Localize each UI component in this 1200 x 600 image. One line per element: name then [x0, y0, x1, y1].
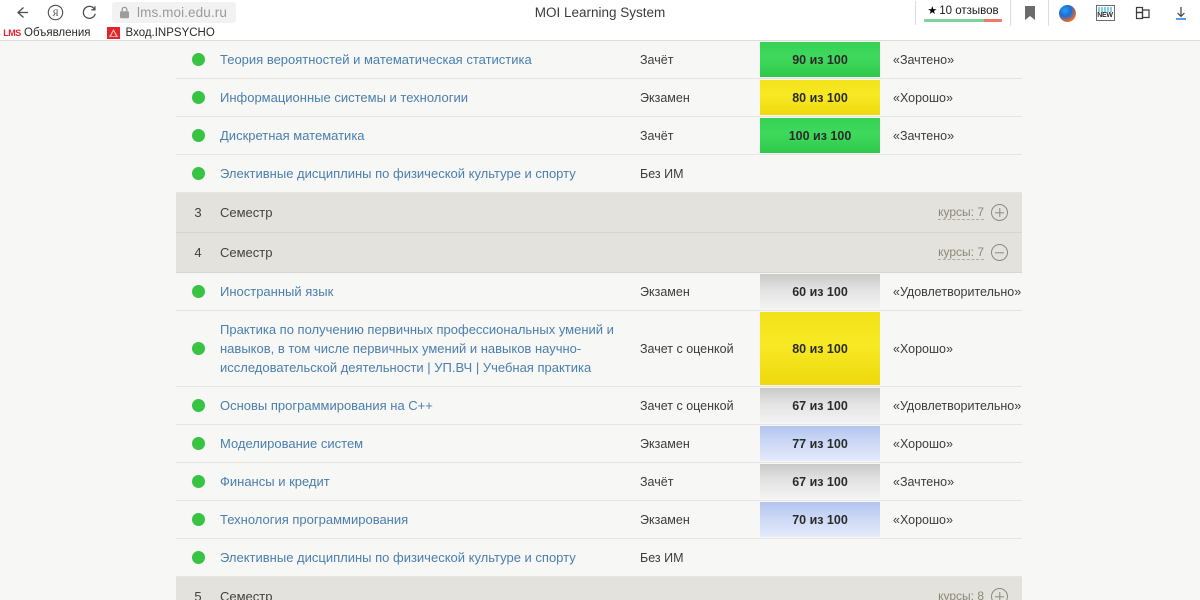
- mark-cell: «Зачтено»: [880, 117, 1022, 154]
- status-dot-icon: [192, 342, 205, 355]
- score-cell: 60 из 100: [760, 274, 880, 309]
- inpsycho-favicon-icon: [107, 27, 121, 39]
- mark-cell: [880, 539, 1022, 576]
- table-row: Элективные дисциплины по физической куль…: [176, 155, 1022, 193]
- status-dot-icon: [192, 513, 205, 526]
- course-name-cell: Технология программирования: [220, 501, 636, 538]
- news-badge-label: NEW: [1097, 11, 1112, 20]
- course-link[interactable]: Информационные системы и технологии: [220, 88, 468, 107]
- course-link[interactable]: Теория вероятностей и математическая ста…: [220, 50, 532, 69]
- course-link[interactable]: Элективные дисциплины по физической куль…: [220, 164, 576, 183]
- reviews-count-label: 10 отзывов: [939, 5, 998, 17]
- course-link[interactable]: Основы программирования на C++: [220, 396, 433, 415]
- status-dot-icon: [192, 475, 205, 488]
- course-name-cell: Информационные системы и технологии: [220, 79, 636, 116]
- mark-cell: «Удовлетворительно»: [880, 387, 1022, 424]
- semester-label: Семестр: [220, 589, 938, 600]
- course-link[interactable]: Моделирование систем: [220, 434, 363, 453]
- score-cell: [760, 540, 880, 575]
- reviews-rating-bar: [924, 19, 1002, 22]
- browser-chrome: Я lms.moi.edu.ru MOI Learning System: [0, 0, 1200, 41]
- browser-toolbar: Я lms.moi.edu.ru MOI Learning System: [0, 0, 1200, 24]
- bookmark-icon[interactable]: [1010, 0, 1048, 26]
- table-row: Основы программирования на C++Зачет с оц…: [176, 387, 1022, 425]
- course-name-cell: Иностранный язык: [220, 273, 636, 310]
- course-link[interactable]: Практика по получению первичных професси…: [220, 320, 624, 377]
- semester-courses-count[interactable]: курсы: 7: [938, 245, 984, 260]
- semester-number: 4: [176, 245, 220, 260]
- status-dot-icon: [192, 437, 205, 450]
- bookmark-label: Вход.INPSYCHO: [126, 27, 215, 39]
- score-cell: 67 из 100: [760, 464, 880, 499]
- status-dot-cell: [176, 41, 220, 78]
- control-type-cell: Зачёт: [636, 41, 760, 78]
- status-dot-cell: [176, 79, 220, 116]
- course-link[interactable]: Элективные дисциплины по физической куль…: [220, 548, 576, 567]
- status-dot-cell: [176, 425, 220, 462]
- status-dot-icon: [192, 167, 205, 180]
- lms-favicon-label: LMS: [3, 28, 21, 38]
- control-type-cell: Экзамен: [636, 425, 760, 462]
- status-dot-icon: [192, 91, 205, 104]
- reviews-badge[interactable]: ★ 10 отзывов: [915, 1, 1010, 25]
- status-dot-cell: [176, 311, 220, 386]
- semester-header-row[interactable]: 3Семестркурсы: 7: [176, 193, 1022, 233]
- course-name-cell: Финансы и кредит: [220, 463, 636, 500]
- collections-icon[interactable]: [1124, 0, 1162, 26]
- semester-courses-count[interactable]: курсы: 7: [938, 205, 984, 220]
- svg-text:Я: Я: [52, 8, 58, 18]
- bookmark-label: Объявления: [24, 27, 91, 39]
- status-dot-cell: [176, 387, 220, 424]
- status-dot-cell: [176, 463, 220, 500]
- status-dot-cell: [176, 539, 220, 576]
- mark-cell: «Удовлетворительно»: [880, 273, 1022, 310]
- semester-header-row[interactable]: 4Семестркурсы: 7: [176, 233, 1022, 273]
- bookmark-item-inpsycho[interactable]: Вход.INPSYCHO: [107, 27, 215, 39]
- browser-orb-icon[interactable]: [1048, 0, 1086, 26]
- score-cell: 100 из 100: [760, 118, 880, 153]
- control-type-cell: Зачёт: [636, 117, 760, 154]
- status-dot-icon: [192, 129, 205, 142]
- table-row: Информационные системы и технологииЭкзам…: [176, 79, 1022, 117]
- semester-right-group: курсы: 8: [938, 588, 1008, 600]
- control-type-cell: Без ИМ: [636, 539, 760, 576]
- grades-table: Теория вероятностей и математическая ста…: [176, 41, 1022, 600]
- semester-right-group: курсы: 7: [938, 204, 1008, 221]
- star-icon: ★: [927, 4, 937, 17]
- semester-courses-count[interactable]: курсы: 8: [938, 589, 984, 600]
- score-cell: 80 из 100: [760, 312, 880, 385]
- course-name-cell: Теория вероятностей и математическая ста…: [220, 41, 636, 78]
- score-cell: [760, 156, 880, 191]
- table-row: Технология программированияЭкзамен70 из …: [176, 501, 1022, 539]
- downloads-icon[interactable]: [1162, 0, 1200, 26]
- table-row: Финансы и кредитЗачёт67 из 100«Зачтено»: [176, 463, 1022, 501]
- semester-label: Семестр: [220, 205, 938, 220]
- status-dot-cell: [176, 501, 220, 538]
- status-dot-icon: [192, 285, 205, 298]
- table-row: Элективные дисциплины по физической куль…: [176, 539, 1022, 577]
- mark-cell: «Хорошо»: [880, 79, 1022, 116]
- course-name-cell: Основы программирования на C++: [220, 387, 636, 424]
- news-icon[interactable]: NEW: [1086, 0, 1124, 26]
- control-type-cell: Зачёт: [636, 463, 760, 500]
- course-name-cell: Элективные дисциплины по физической куль…: [220, 539, 636, 576]
- semester-label: Семестр: [220, 245, 938, 260]
- semester-right-group: курсы: 7: [938, 244, 1008, 261]
- collapse-minus-icon[interactable]: [991, 244, 1008, 261]
- semester-number: 3: [176, 205, 220, 220]
- table-row: Иностранный языкЭкзамен60 из 100«Удовлет…: [176, 273, 1022, 311]
- course-link[interactable]: Технология программирования: [220, 510, 408, 529]
- navigation-buttons: Я: [0, 0, 106, 24]
- yandex-logo-icon[interactable]: Я: [38, 0, 72, 24]
- lock-icon: [119, 6, 130, 19]
- mark-cell: «Зачтено»: [880, 41, 1022, 78]
- semester-header-row[interactable]: 5Семестркурсы: 8: [176, 577, 1022, 600]
- control-type-cell: Зачет с оценкой: [636, 387, 760, 424]
- course-name-cell: Элективные дисциплины по физической куль…: [220, 155, 636, 192]
- page-content: Теория вероятностей и математическая ста…: [0, 41, 1200, 600]
- lms-favicon-icon: LMS: [5, 27, 19, 39]
- control-type-cell: Экзамен: [636, 501, 760, 538]
- score-cell: 77 из 100: [760, 426, 880, 461]
- course-name-cell: Моделирование систем: [220, 425, 636, 462]
- score-cell: 67 из 100: [760, 388, 880, 423]
- status-dot-cell: [176, 155, 220, 192]
- control-type-cell: Экзамен: [636, 273, 760, 310]
- control-type-cell: Экзамен: [636, 79, 760, 116]
- course-link[interactable]: Иностранный язык: [220, 282, 333, 301]
- status-dot-icon: [192, 399, 205, 412]
- table-row: Практика по получению первичных професси…: [176, 311, 1022, 387]
- score-cell: 70 из 100: [760, 502, 880, 537]
- toolbar-right-icons: ★ 10 отзывов NEW: [915, 0, 1200, 26]
- status-dot-cell: [176, 117, 220, 154]
- expand-plus-icon[interactable]: [991, 204, 1008, 221]
- course-name-cell: Практика по получению первичных професси…: [220, 311, 636, 386]
- url-text: lms.moi.edu.ru: [137, 5, 227, 20]
- control-type-cell: Без ИМ: [636, 155, 760, 192]
- course-link[interactable]: Дискретная математика: [220, 126, 365, 145]
- table-row: Дискретная математикаЗачёт100 из 100«Зач…: [176, 117, 1022, 155]
- mark-cell: «Зачтено»: [880, 463, 1022, 500]
- address-bar[interactable]: lms.moi.edu.ru: [112, 2, 236, 23]
- control-type-cell: Зачет с оценкой: [636, 311, 760, 386]
- back-arrow-icon[interactable]: [4, 0, 38, 24]
- mark-cell: «Хорошо»: [880, 425, 1022, 462]
- course-name-cell: Дискретная математика: [220, 117, 636, 154]
- score-cell: 90 из 100: [760, 42, 880, 77]
- mark-cell: «Хорошо»: [880, 311, 1022, 386]
- mark-cell: «Хорошо»: [880, 501, 1022, 538]
- bookmarks-bar: LMS Объявления Вход.INPSYCHO: [0, 24, 1200, 41]
- table-row: Теория вероятностей и математическая ста…: [176, 41, 1022, 79]
- status-dot-cell: [176, 273, 220, 310]
- bookmark-item-announcements[interactable]: LMS Объявления: [5, 27, 91, 39]
- semester-number: 5: [176, 589, 220, 600]
- status-dot-icon: [192, 551, 205, 564]
- course-link[interactable]: Финансы и кредит: [220, 472, 330, 491]
- score-cell: 80 из 100: [760, 80, 880, 115]
- status-dot-icon: [192, 53, 205, 66]
- table-row: Моделирование системЭкзамен77 из 100«Хор…: [176, 425, 1022, 463]
- reload-icon[interactable]: [72, 0, 106, 24]
- mark-cell: [880, 155, 1022, 192]
- expand-plus-icon[interactable]: [991, 588, 1008, 600]
